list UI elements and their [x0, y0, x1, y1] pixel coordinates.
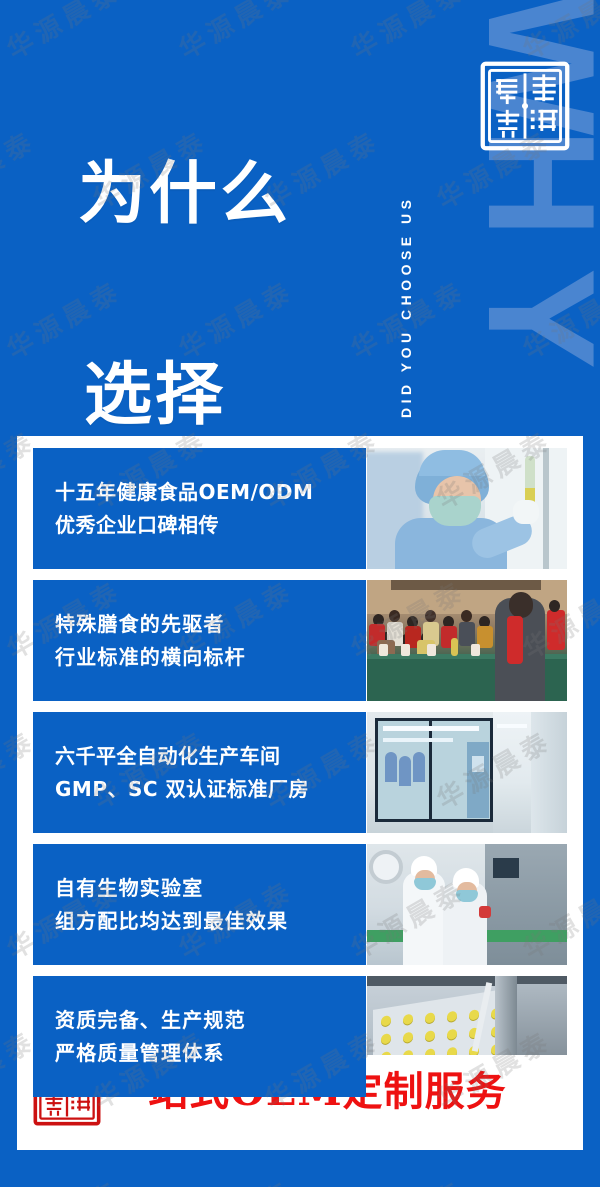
- watermark-text: 华源晨泰: [515, 1170, 600, 1187]
- vertical-subtitle: DID YOU CHOOSE US: [398, 18, 426, 418]
- feature-card-4: 自有生物实验室 组方配比均达到最佳效果: [33, 844, 366, 965]
- watermark-text: 华源晨泰: [343, 1170, 472, 1187]
- features-list: 十五年健康食品OEM/ODM 优秀企业口碑相传: [33, 448, 567, 1097]
- feature-1-line-2: 优秀企业口碑相传: [55, 509, 366, 541]
- feature-3-line-1: 六千平全自动化生产车间: [55, 740, 366, 772]
- feature-2-line-1: 特殊膳食的先驱者: [55, 608, 366, 640]
- feature-card-5: 资质完备、生产规范 严格质量管理体系: [33, 976, 366, 1097]
- poster-canvas: W H Y 为什么 选择 我们? DID YOU CHOOSE US: [0, 0, 600, 1187]
- brand-seal-icon: [477, 58, 573, 154]
- watermark-text: 华源晨泰: [0, 120, 43, 216]
- packaging-line-photo: [367, 844, 567, 965]
- watermark-text: 华源晨泰: [171, 1170, 300, 1187]
- feature-card-3: 六千平全自动化生产车间 GMP、SC 双认证标准厂房: [33, 712, 366, 833]
- feature-4-line-2: 组方配比均达到最佳效果: [55, 905, 366, 937]
- lab-technician-photo: [367, 448, 567, 569]
- list-item[interactable]: 六千平全自动化生产车间 GMP、SC 双认证标准厂房: [33, 712, 567, 833]
- feature-4-line-1: 自有生物实验室: [55, 872, 366, 904]
- list-item[interactable]: 特殊膳食的先驱者 行业标准的横向标杆: [33, 580, 567, 701]
- why-letter-y: Y: [481, 268, 600, 363]
- feature-card-2: 特殊膳食的先驱者 行业标准的横向标杆: [33, 580, 366, 701]
- feature-2-line-2: 行业标准的横向标杆: [55, 641, 366, 673]
- feature-1-line-1: 十五年健康食品OEM/ODM: [55, 476, 366, 508]
- feature-5-line-2: 严格质量管理体系: [55, 1037, 366, 1069]
- feature-5-line-1: 资质完备、生产规范: [55, 1004, 366, 1036]
- list-item[interactable]: 十五年健康食品OEM/ODM 优秀企业口碑相传: [33, 448, 567, 569]
- cleanroom-corridor-photo: [367, 712, 567, 833]
- watermark-text: 华源晨泰: [0, 1170, 129, 1187]
- feature-card-1: 十五年健康食品OEM/ODM 优秀企业口碑相传: [33, 448, 366, 569]
- headline-line-2: 选择: [78, 346, 408, 447]
- headline-line-1: 为什么: [78, 145, 408, 246]
- features-frame: 十五年健康食品OEM/ODM 优秀企业口碑相传: [17, 436, 583, 1150]
- conference-audience-photo: [367, 580, 567, 701]
- feature-3-line-2: GMP、SC 双认证标准厂房: [55, 773, 366, 805]
- list-item[interactable]: 自有生物实验室 组方配比均达到最佳效果: [33, 844, 567, 965]
